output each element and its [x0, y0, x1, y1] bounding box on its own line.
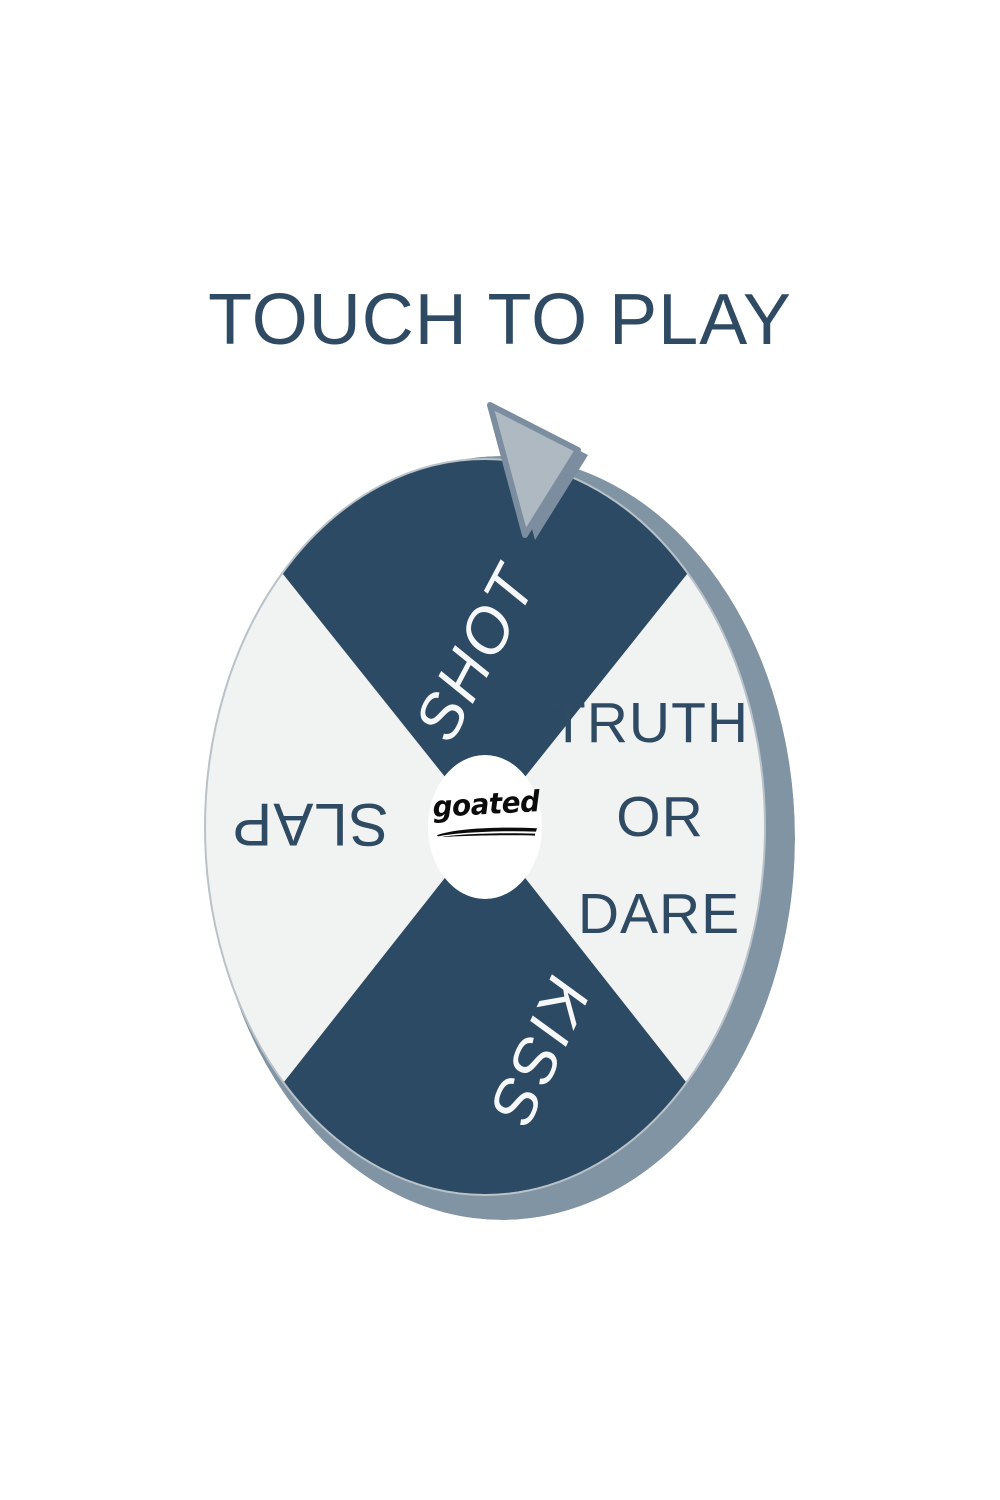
spin-wheel-graphic[interactable]: SHOT TRUTH OR DARE KISS SLAP	[180, 390, 820, 1220]
label-line-truth: TRUTH	[551, 691, 749, 755]
wheel-screen: TOUCH TO PLAY	[0, 0, 1000, 1500]
label-line-or: OR	[616, 785, 704, 849]
wheel-hub[interactable]	[428, 755, 542, 899]
label-line-dare: DARE	[578, 882, 740, 946]
segment-label-slap: SLAP	[231, 791, 388, 858]
spin-wheel[interactable]: SHOT TRUTH OR DARE KISS SLAP	[180, 390, 820, 1220]
page-title: TOUCH TO PLAY	[0, 284, 1000, 356]
